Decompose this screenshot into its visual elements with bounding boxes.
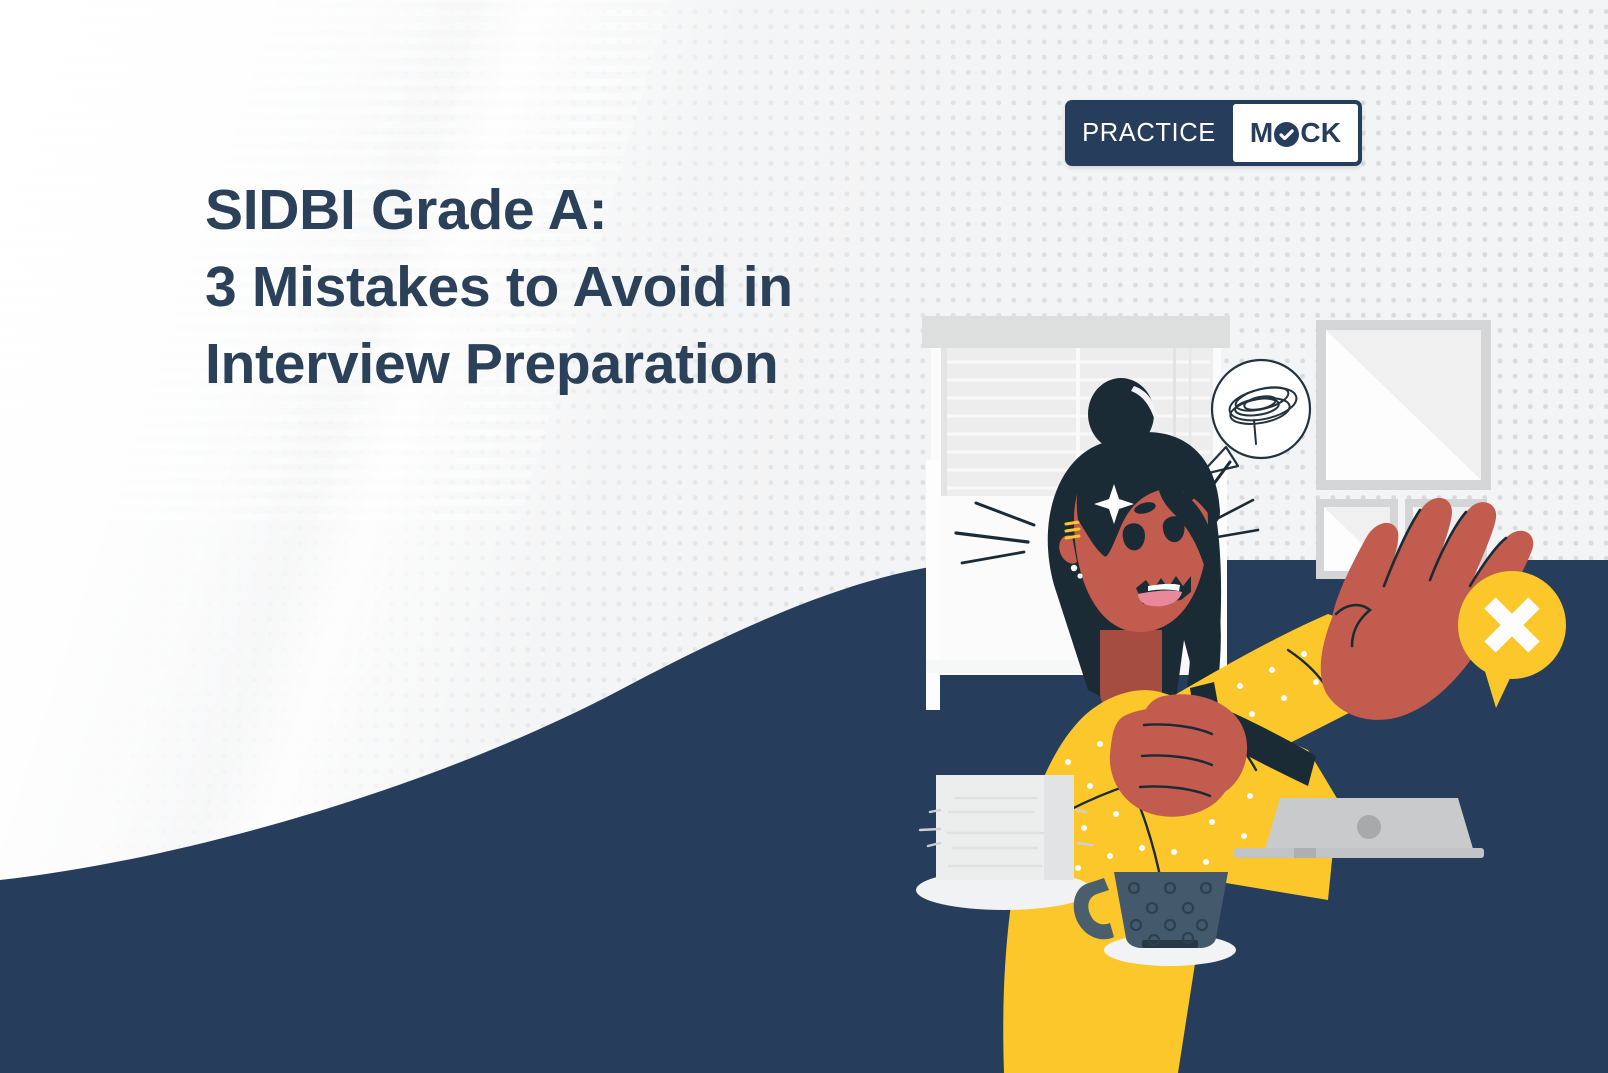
banner-root: PRACTICE M CK SIDBI Grade A: 3 Mistakes … xyxy=(0,0,1608,1073)
practicemock-logo[interactable]: PRACTICE M CK xyxy=(1065,100,1362,166)
logo-letter-m: M xyxy=(1250,117,1274,149)
check-circle-icon xyxy=(1274,122,1299,147)
title-line-2: 3 Mistakes to Avoid in xyxy=(205,249,965,326)
logo-letters-ck: CK xyxy=(1300,117,1341,149)
paper-stack xyxy=(916,775,1092,910)
x-speech-bubble xyxy=(1458,571,1566,708)
page-title: SIDBI Grade A: 3 Mistakes to Avoid in In… xyxy=(205,172,965,403)
title-line-1: SIDBI Grade A: xyxy=(205,172,965,249)
logo-word-mock: M CK xyxy=(1233,104,1358,162)
title-line-3: Interview Preparation xyxy=(205,326,965,403)
wall-picture-frame-large xyxy=(1316,320,1491,490)
logo-word-practice: PRACTICE xyxy=(1065,100,1233,166)
